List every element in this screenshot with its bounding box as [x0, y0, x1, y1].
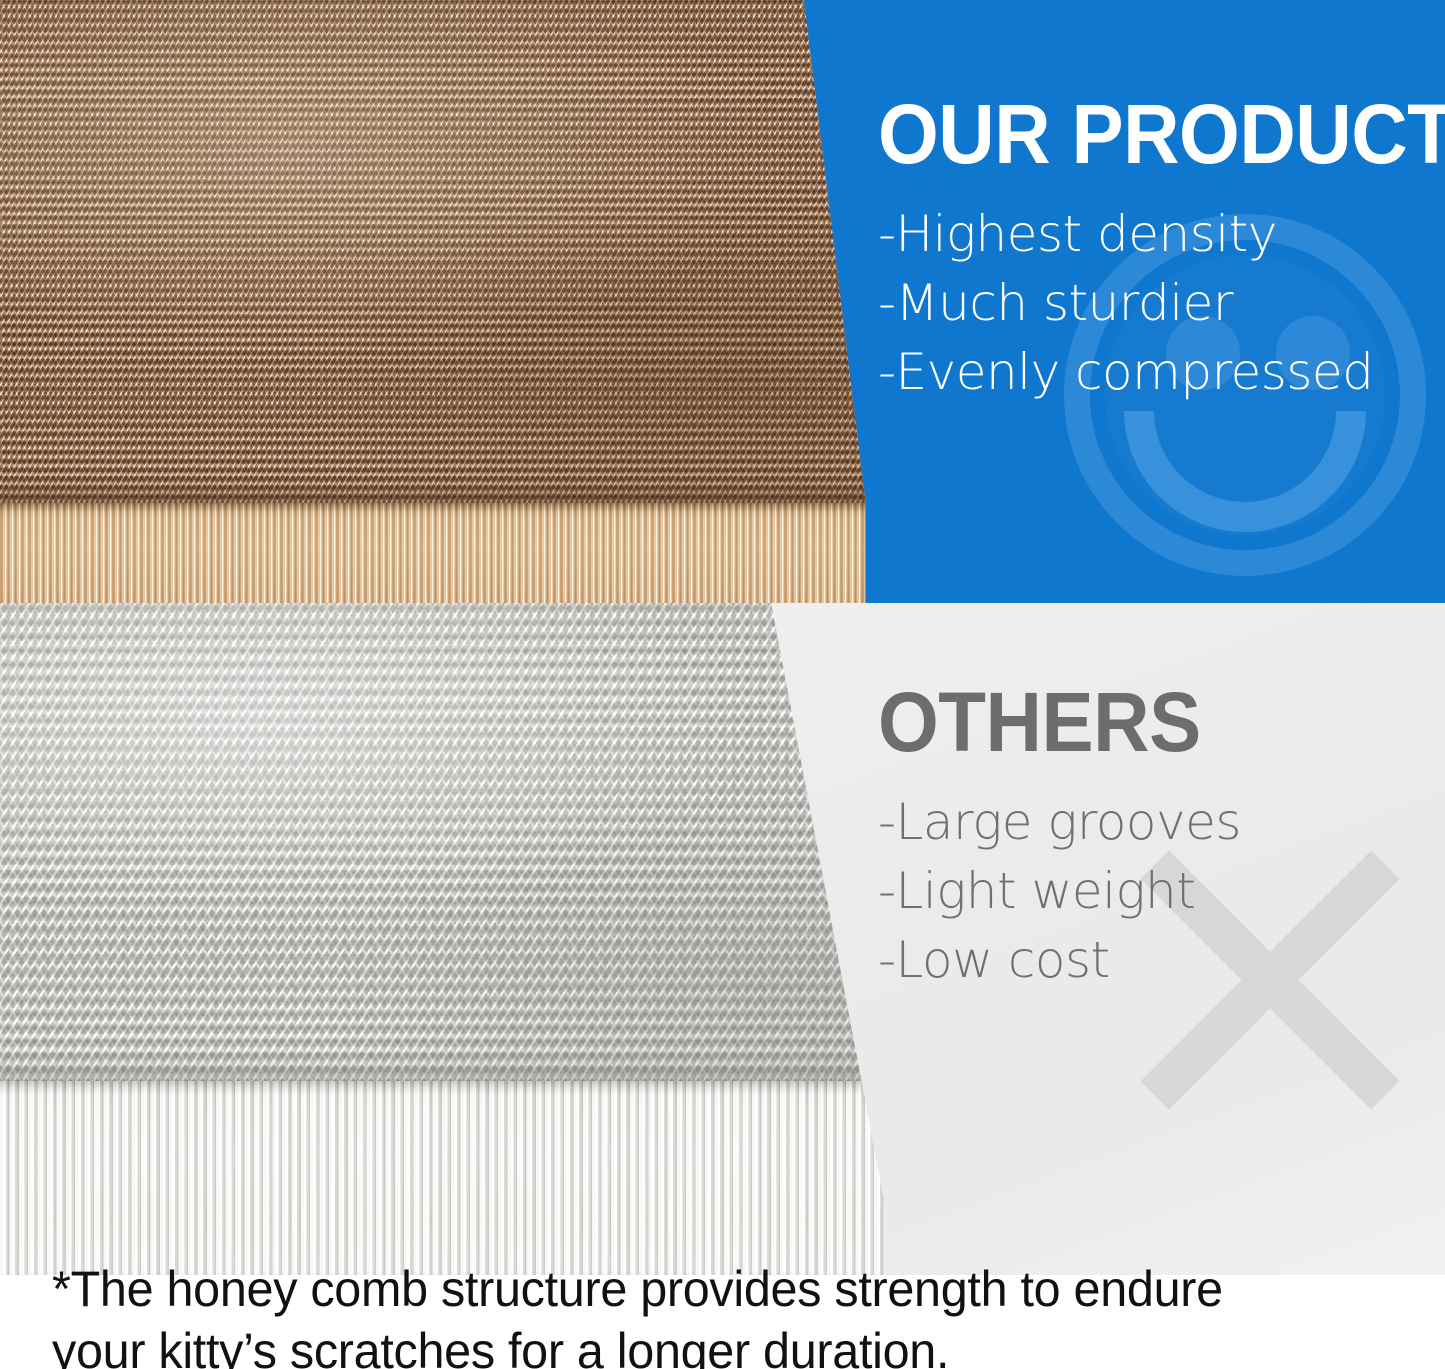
our-product-bullet-1: -Highest density — [878, 200, 1445, 269]
others-honeycomb-image — [0, 603, 890, 1275]
others-bullet-1: -Large grooves — [878, 788, 1241, 857]
cardboard-front-edge — [0, 503, 870, 603]
infographic-canvas: OUR PRODUCT -Highest density -Much sturd… — [0, 0, 1445, 1369]
cardboard-top-face — [0, 0, 870, 503]
our-product-bullet-3: -Evenly compressed — [878, 338, 1445, 407]
others-bullet-list: -Large grooves -Light weight -Low cost — [878, 788, 1241, 995]
others-heading: OTHERS — [878, 680, 1216, 764]
our-product-bullet-list: -Highest density -Much sturdier -Evenly … — [878, 200, 1445, 407]
footer-line-1: *The honey comb structure provides stren… — [52, 1258, 1371, 1320]
our-product-heading: OUR PRODUCT — [878, 92, 1445, 176]
footer-line-2: your kitty’s scratches for a longer dura… — [52, 1320, 1371, 1369]
footer-note: *The honey comb structure provides stren… — [52, 1258, 1412, 1369]
others-bullet-2: -Light weight — [878, 857, 1241, 926]
our-product-cardboard-image — [0, 0, 870, 603]
our-product-bullet-2: -Much sturdier — [878, 269, 1445, 338]
honeycomb-front-edge — [0, 1081, 890, 1275]
others-bullet-3: -Low cost — [878, 926, 1241, 995]
honeycomb-top-face — [0, 603, 890, 1081]
our-product-text-block: OUR PRODUCT -Highest density -Much sturd… — [878, 92, 1445, 407]
our-product-section: OUR PRODUCT -Highest density -Much sturd… — [0, 0, 1445, 603]
others-text-block: OTHERS -Large grooves -Light weight -Low… — [878, 680, 1241, 995]
